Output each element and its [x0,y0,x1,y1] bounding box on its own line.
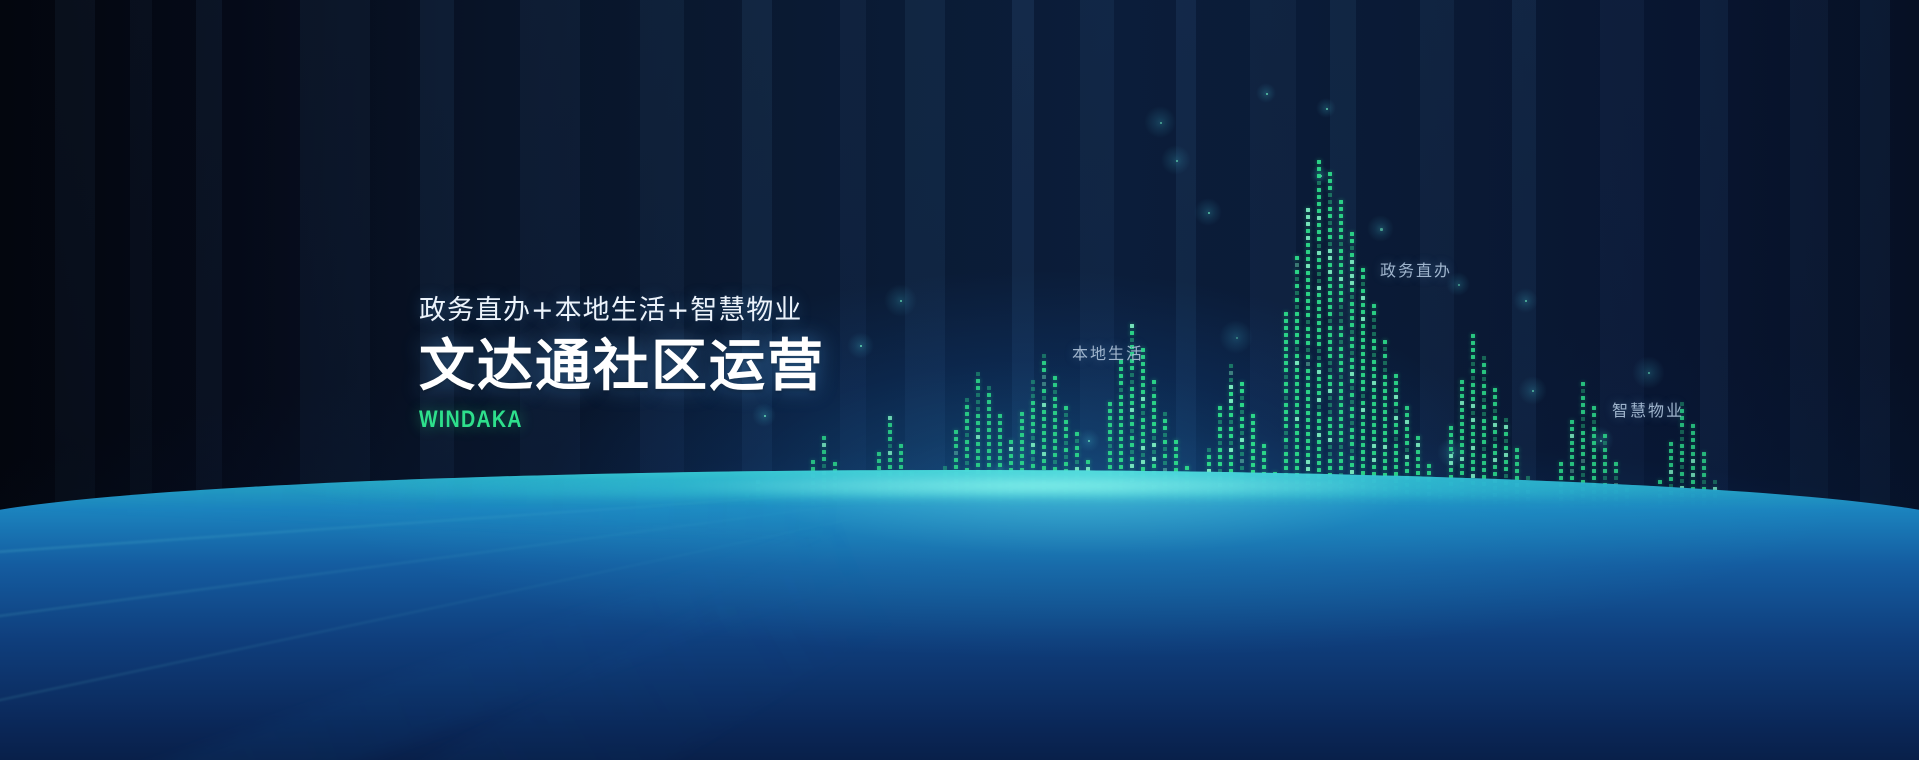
page-title: 文达通社区运营 [419,337,825,397]
perspective-ground-plane [0,470,1919,760]
horizon-glow [0,470,1919,498]
headline-block: 政务直办+本地生活+智慧物业 文达通社区运营 WINDAKA [419,295,825,434]
tag-label-2: 政务直办 [1380,257,1452,281]
tag-label-1: 本地生活 [1072,340,1144,364]
brand-logotype: WINDAKA [419,406,752,434]
kicker-text: 政务直办+本地生活+智慧物业 [419,295,825,327]
tag-label-3: 智慧物业 [1612,397,1684,421]
hero-banner: 政务直办+本地生活+智慧物业 文达通社区运营 WINDAKA 本地生活政务直办智… [0,0,1919,760]
